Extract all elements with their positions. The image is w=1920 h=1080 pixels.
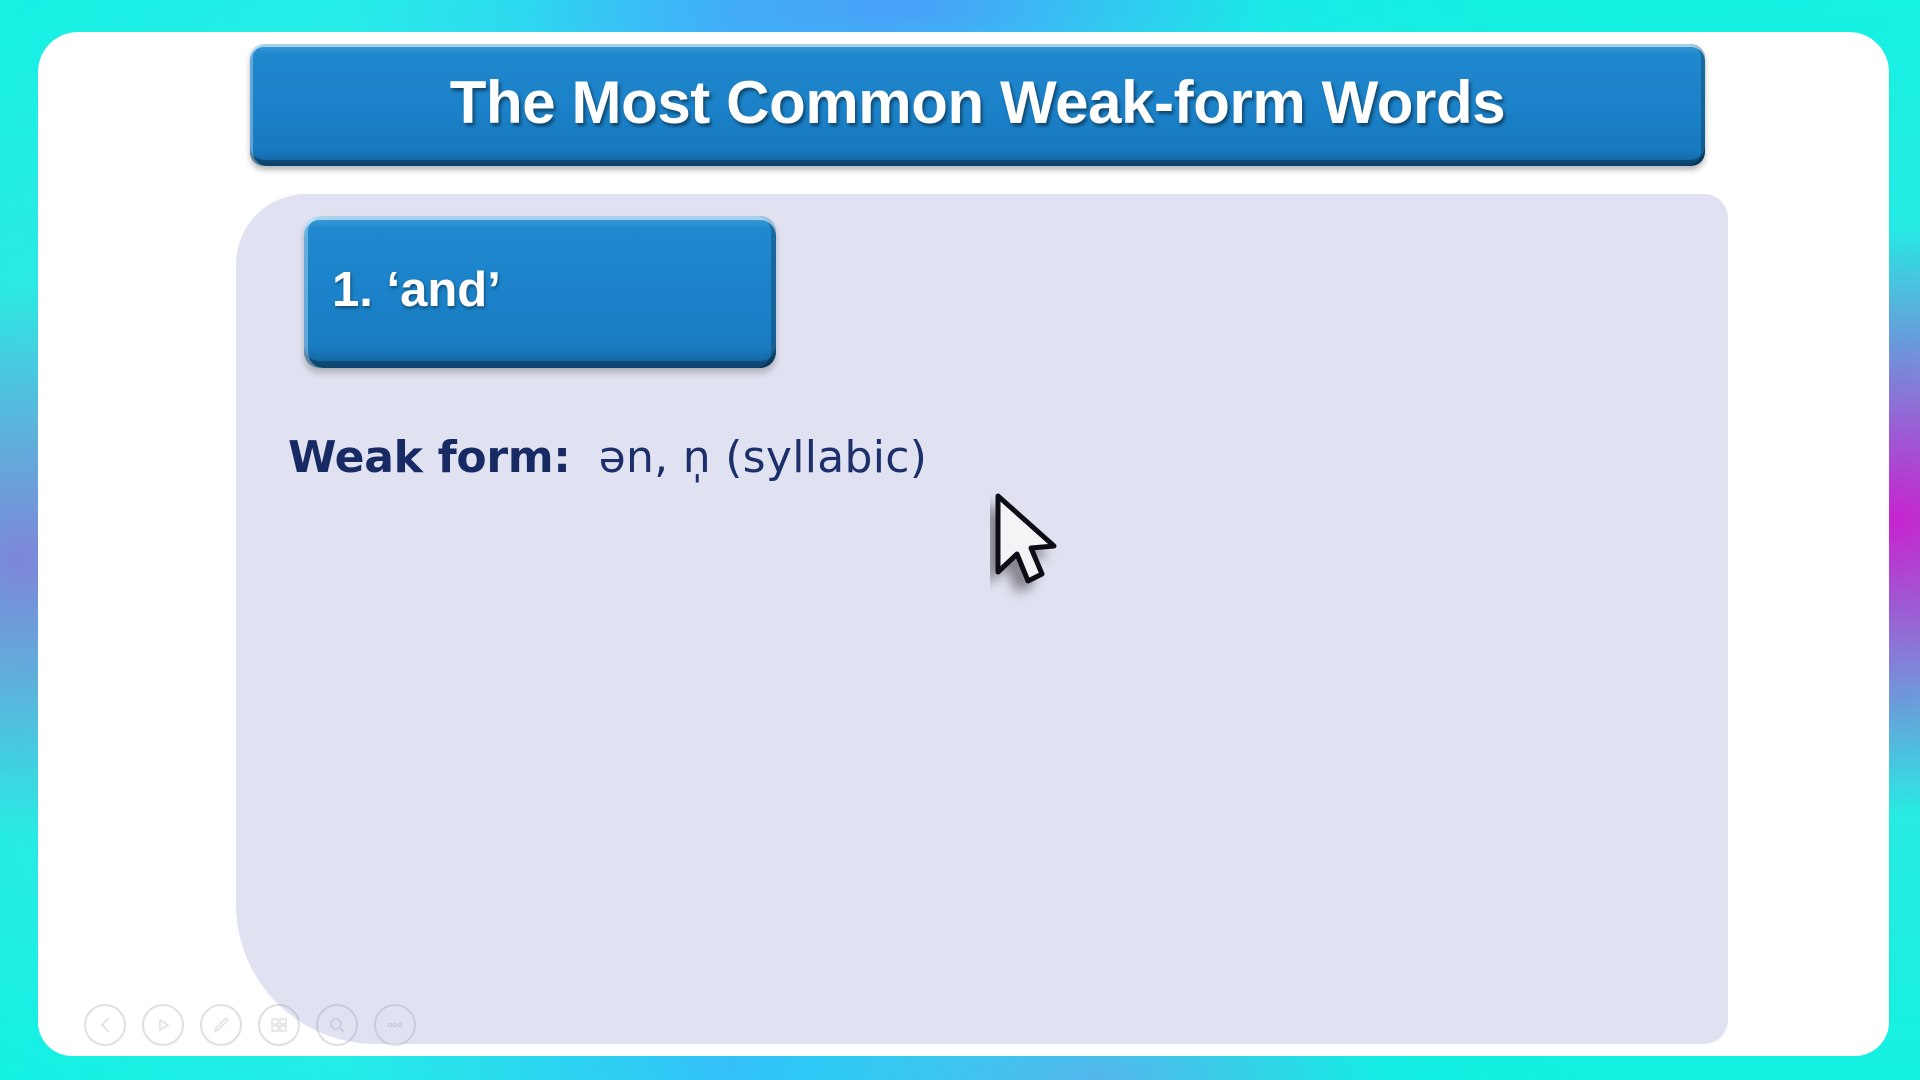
magnifier-icon [327,1015,347,1035]
previous-slide-button[interactable] [84,1004,126,1046]
pen-icon [211,1015,231,1035]
slide-content-panel: 1. ‘and’ Weak form: ən, n̩ (syllabic) [236,194,1728,1044]
play-icon [154,1016,172,1034]
slide-grid-button[interactable] [258,1004,300,1046]
list-item-box-1: 1. ‘and’ [304,216,776,368]
grid-icon [269,1015,289,1035]
weak-form-value: ən, n̩ (syllabic) [599,432,928,483]
ellipsis-icon [384,1014,406,1036]
more-options-button[interactable] [374,1004,416,1046]
pen-tool-button[interactable] [200,1004,242,1046]
slide-title: The Most Common Weak-form Words [250,68,1705,143]
chevron-left-icon [96,1016,114,1034]
desktop-backdrop: The Most Common Weak-form Words 1. ‘and’… [0,0,1920,1080]
play-slideshow-button[interactable] [142,1004,184,1046]
weak-form-label: Weak form: [288,432,571,483]
slide-title-banner: The Most Common Weak-form Words [250,44,1705,166]
weak-form-line: Weak form: ən, n̩ (syllabic) [288,432,927,483]
zoom-tool-button[interactable] [316,1004,358,1046]
presenter-toolbar [84,1004,416,1046]
list-item-label: 1. ‘and’ [304,262,501,322]
slide-canvas: The Most Common Weak-form Words 1. ‘and’… [38,32,1889,1056]
